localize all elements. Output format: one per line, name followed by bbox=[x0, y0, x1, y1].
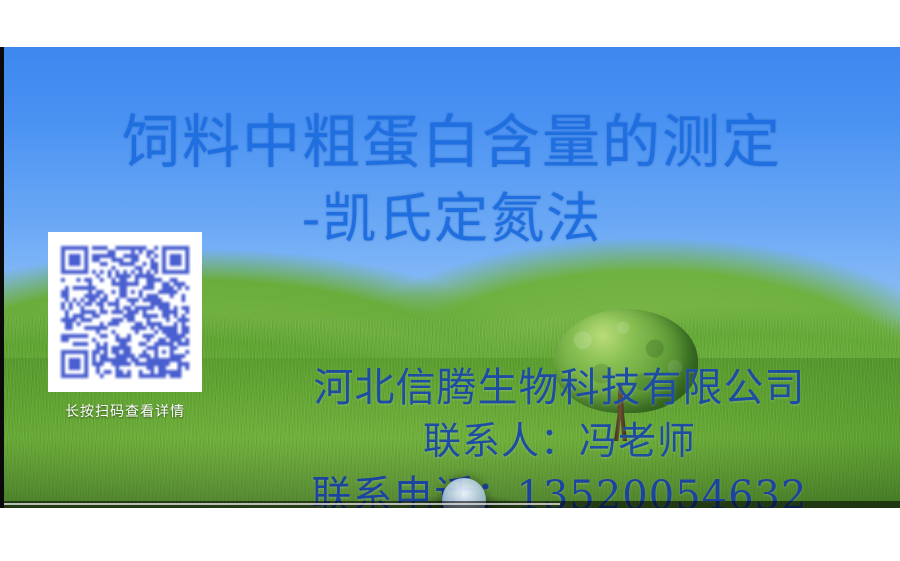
qr-code-icon[interactable] bbox=[48, 232, 202, 392]
company-name: 河北信腾生物科技有限公司 bbox=[219, 355, 900, 413]
page-root: 饲料中粗蛋白含量的测定 -凯氏定氮法 长按扫码查看详情 河北信腾生物科技有限公司… bbox=[0, 0, 900, 561]
letterbox-left-strip bbox=[0, 47, 4, 508]
qr-code-canvas bbox=[57, 242, 193, 382]
player-seek-bar[interactable] bbox=[4, 501, 900, 508]
video-player[interactable]: 饲料中粗蛋白含量的测定 -凯氏定氮法 长按扫码查看详情 河北信腾生物科技有限公司… bbox=[0, 47, 900, 508]
bottom-white-band bbox=[0, 508, 900, 561]
qr-caption: 长按扫码查看详情 bbox=[48, 401, 202, 421]
player-progress-fill bbox=[4, 503, 560, 505]
top-white-band bbox=[0, 0, 900, 47]
contact-person: 联系人：冯老师 bbox=[219, 410, 900, 465]
video-frame: 饲料中粗蛋白含量的测定 -凯氏定氮法 长按扫码查看详情 河北信腾生物科技有限公司… bbox=[4, 47, 900, 508]
slide-title: 饲料中粗蛋白含量的测定 bbox=[4, 111, 900, 174]
